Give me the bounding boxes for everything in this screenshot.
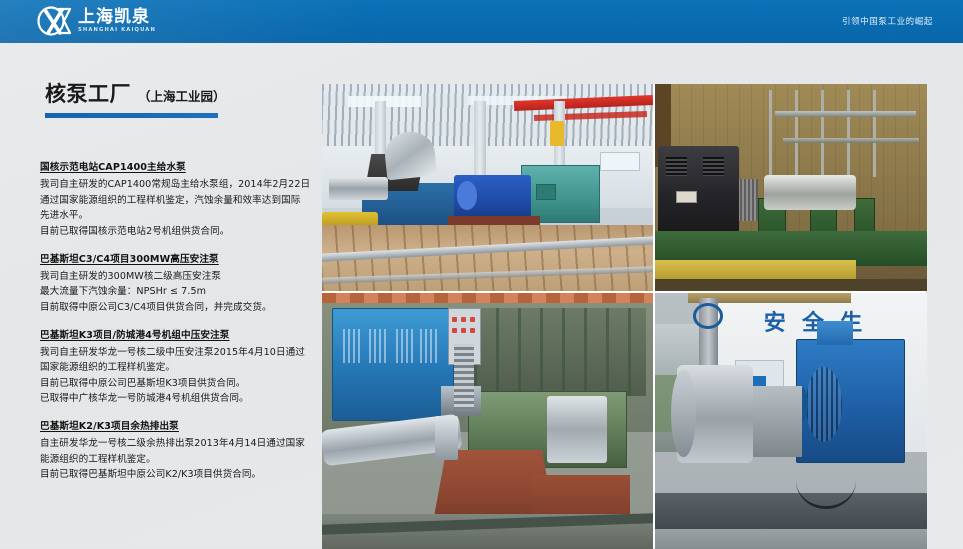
- brand-name-en: SHANGHAI KAIQUAN: [78, 28, 156, 33]
- section-item: 巴基斯坦K3项目/防城港4号机组中压安注泵 我司自主研发华龙一号核二级中压安注泵…: [40, 329, 318, 408]
- section-heading: 国核示范电站CAP1400主给水泵: [40, 161, 318, 175]
- brand-logo[interactable]: 上海凯泉 SHANGHAI KAIQUAN: [36, 5, 156, 37]
- photo-gallery-grid: 安 全 生: [322, 84, 925, 548]
- kaiquan-logo-icon: [36, 5, 72, 37]
- section-line: 目前已取得中原公司巴基斯坦K3项目供货合同。: [40, 376, 318, 392]
- section-line: 通过国家能源组织的工程样机鉴定，汽蚀余量和效率达到国际: [40, 193, 318, 209]
- brand-name-cn: 上海凯泉: [78, 9, 156, 26]
- app-header: 上海凯泉 SHANGHAI KAIQUAN 引领中国泵工业的崛起: [0, 0, 963, 43]
- page-title-main: 核泵工厂: [45, 84, 131, 105]
- section-line: 我司自主研发的CAP1400常规岛主给水泵组，2014年2月22日: [40, 177, 318, 193]
- wall-slogan-char: 安: [764, 305, 788, 337]
- section-line: 我司自主研发华龙一号核二级中压安注泵2015年4月10日通过: [40, 345, 318, 361]
- section-line: 先进水平。: [40, 208, 318, 224]
- section-heading: 巴基斯坦C3/C4项目300MW高压安注泵: [40, 253, 318, 267]
- section-item: 巴基斯坦C3/C4项目300MW高压安注泵 我司自主研发的300MW核二级高压安…: [40, 253, 318, 316]
- photo-outdoor-test-rig-blue-motor[interactable]: 安 全 生: [655, 293, 927, 549]
- title-underline-bar: [45, 113, 218, 118]
- description-column: 国核示范电站CAP1400主给水泵 我司自主研发的CAP1400常规岛主给水泵组…: [40, 161, 318, 483]
- section-item: 国核示范电站CAP1400主给水泵 我司自主研发的CAP1400常规岛主给水泵组…: [40, 161, 318, 240]
- section-line: 我司自主研发的300MW核二级高压安注泵: [40, 269, 318, 285]
- section-line: 目前已取得国核示范电站2号机组供货合同。: [40, 224, 318, 240]
- header-tagline: 引领中国泵工业的崛起: [842, 15, 933, 27]
- slide-body: 核泵工厂 （上海工业园） 国核示范电站CAP1400主给水泵 我司自主研发的CA…: [0, 43, 963, 549]
- section-line: 能源组织的工程样机鉴定。: [40, 452, 318, 468]
- page-title-sub: （上海工业园）: [138, 91, 226, 105]
- section-heading: 巴基斯坦K3项目/防城港4号机组中压安注泵: [40, 329, 318, 343]
- section-line: 国家能源组织的工程样机鉴定。: [40, 360, 318, 376]
- photo-blue-motor-green-pump-rust-base[interactable]: [322, 293, 653, 549]
- section-line: 目前取得中原公司C3/C4项目供货合同，并完成交货。: [40, 300, 318, 316]
- photo-indoor-green-pump-black-motor[interactable]: [655, 84, 927, 291]
- section-line: 最大流量下汽蚀余量：NPSHr ≤ 7.5m: [40, 284, 318, 300]
- section-line: 已取得中广核华龙一号防城港4号机组供货合同。: [40, 391, 318, 407]
- section-heading: 巴基斯坦K2/K3项目余热排出泵: [40, 420, 318, 434]
- section-line: 自主研发华龙一号核二级余热排出泵2013年4月14日通过国家: [40, 436, 318, 452]
- section-line: 目前已取得巴基斯坦中原公司K2/K3项目供货合同。: [40, 467, 318, 483]
- photo-factory-hall-feedwater-pump[interactable]: [322, 84, 653, 291]
- section-item: 巴基斯坦K2/K3项目余热排出泵 自主研发华龙一号核二级余热排出泵2013年4月…: [40, 420, 318, 483]
- page-title: 核泵工厂 （上海工业园）: [45, 84, 310, 118]
